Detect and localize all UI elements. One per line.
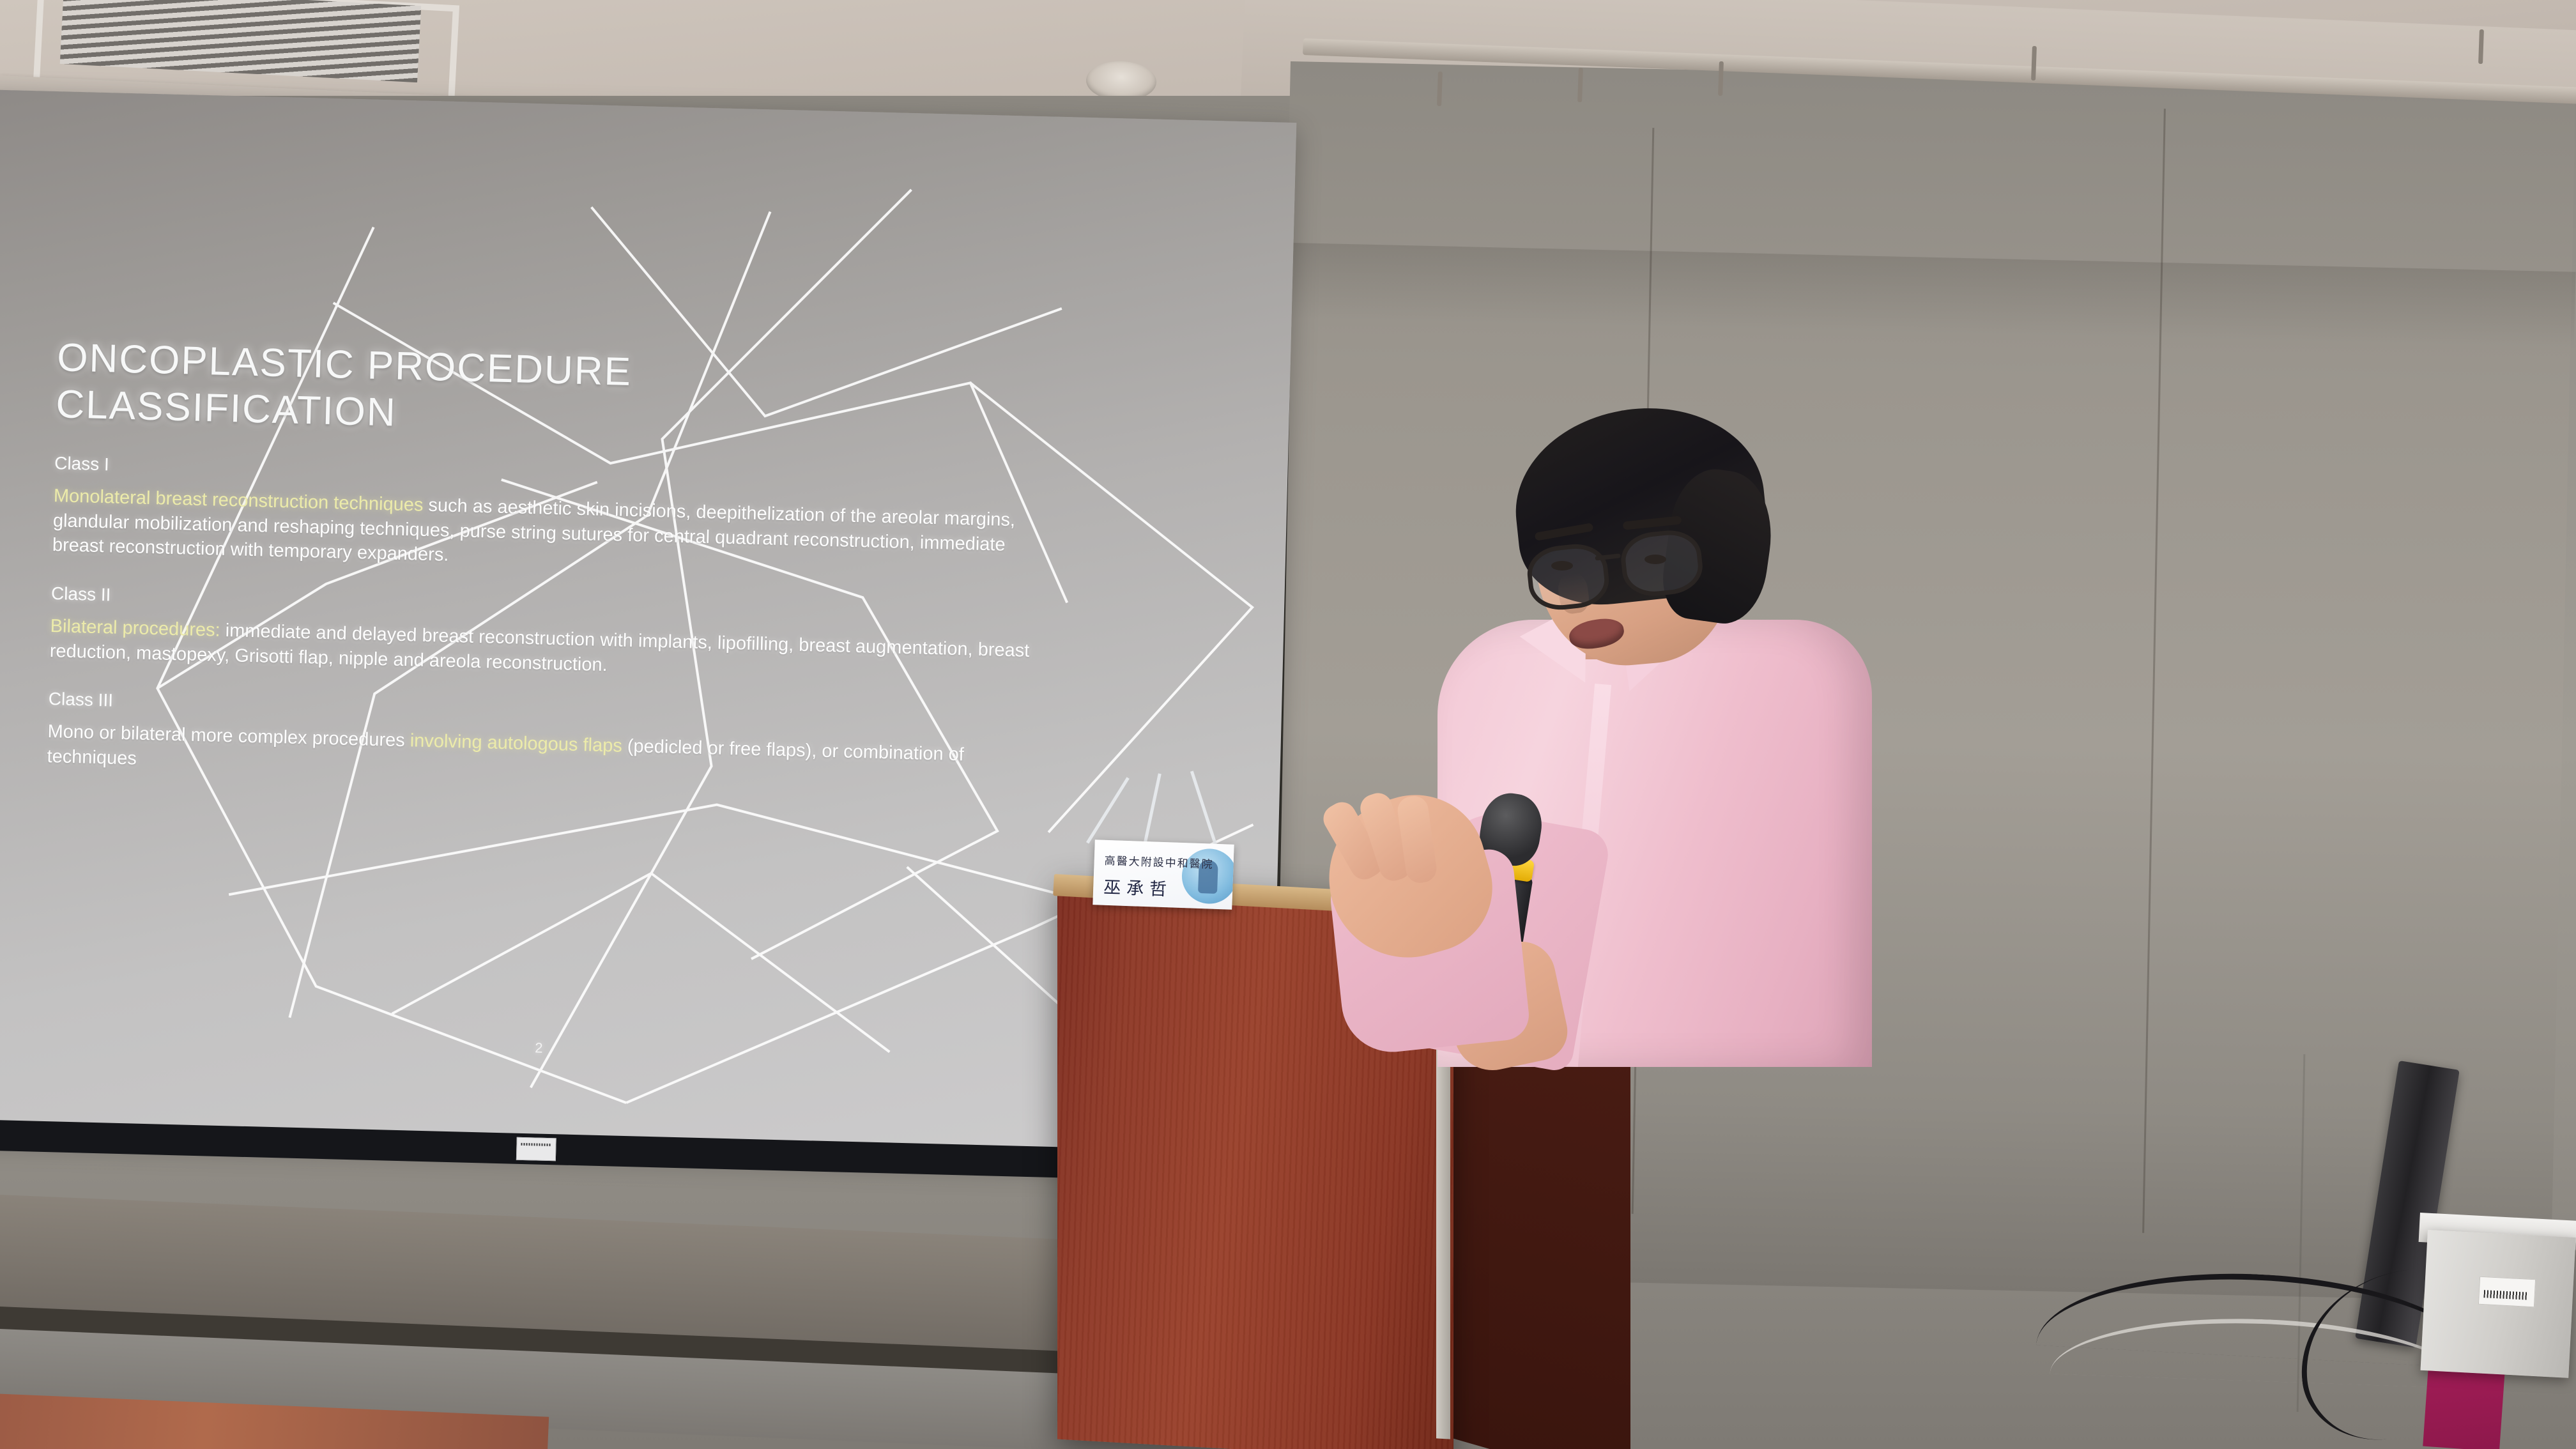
av-box-label xyxy=(2478,1276,2536,1308)
paragraph-prefix: Mono or bilateral more complex procedure… xyxy=(47,721,410,751)
highlighted-phrase: Monolateral breast reconstruction techni… xyxy=(54,486,424,516)
speaker-eye xyxy=(1551,561,1573,571)
class-paragraph: Monolateral breast reconstruction techni… xyxy=(52,484,1050,583)
speaker xyxy=(1367,409,1929,1061)
highlighted-phrase: Bilateral procedures: xyxy=(50,616,220,641)
nameplate-organization: 高醫大附設中和醫院 xyxy=(1104,852,1214,871)
screen-brand-label xyxy=(516,1137,556,1161)
speaker-eye xyxy=(1644,555,1666,564)
highlighted-phrase: involving autologous flaps xyxy=(410,730,622,756)
slide-page-number: 2 xyxy=(535,1039,543,1056)
speaker-nameplate: 高醫大附設中和醫院 巫承哲 xyxy=(1092,839,1234,910)
nameplate-name: 巫承哲 xyxy=(1103,873,1173,901)
slide-content: ONCOPLASTIC PROCEDURE CLASSIFICATION Cla… xyxy=(47,334,1054,794)
lecture-room-photo: ONCOPLASTIC PROCEDURE CLASSIFICATION Cla… xyxy=(0,0,2576,1449)
slide-block-class-2: Class II Bilateral procedures: immediate… xyxy=(49,583,1048,689)
slide-block-class-1: Class I Monolateral breast reconstructio… xyxy=(52,453,1051,583)
